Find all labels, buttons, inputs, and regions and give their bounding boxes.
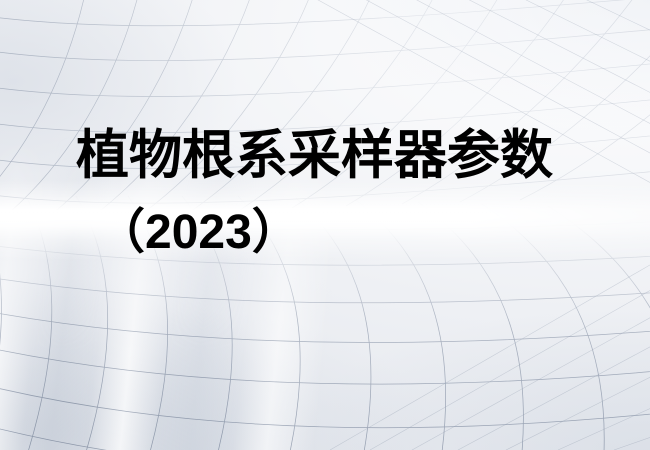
page-title-year: （2023）	[97, 209, 300, 257]
title-block: 植物根系采样器参数 （2023）	[0, 0, 650, 450]
slide-canvas: 植物根系采样器参数 （2023）	[0, 0, 650, 450]
page-title: 植物根系采样器参数	[76, 129, 553, 182]
